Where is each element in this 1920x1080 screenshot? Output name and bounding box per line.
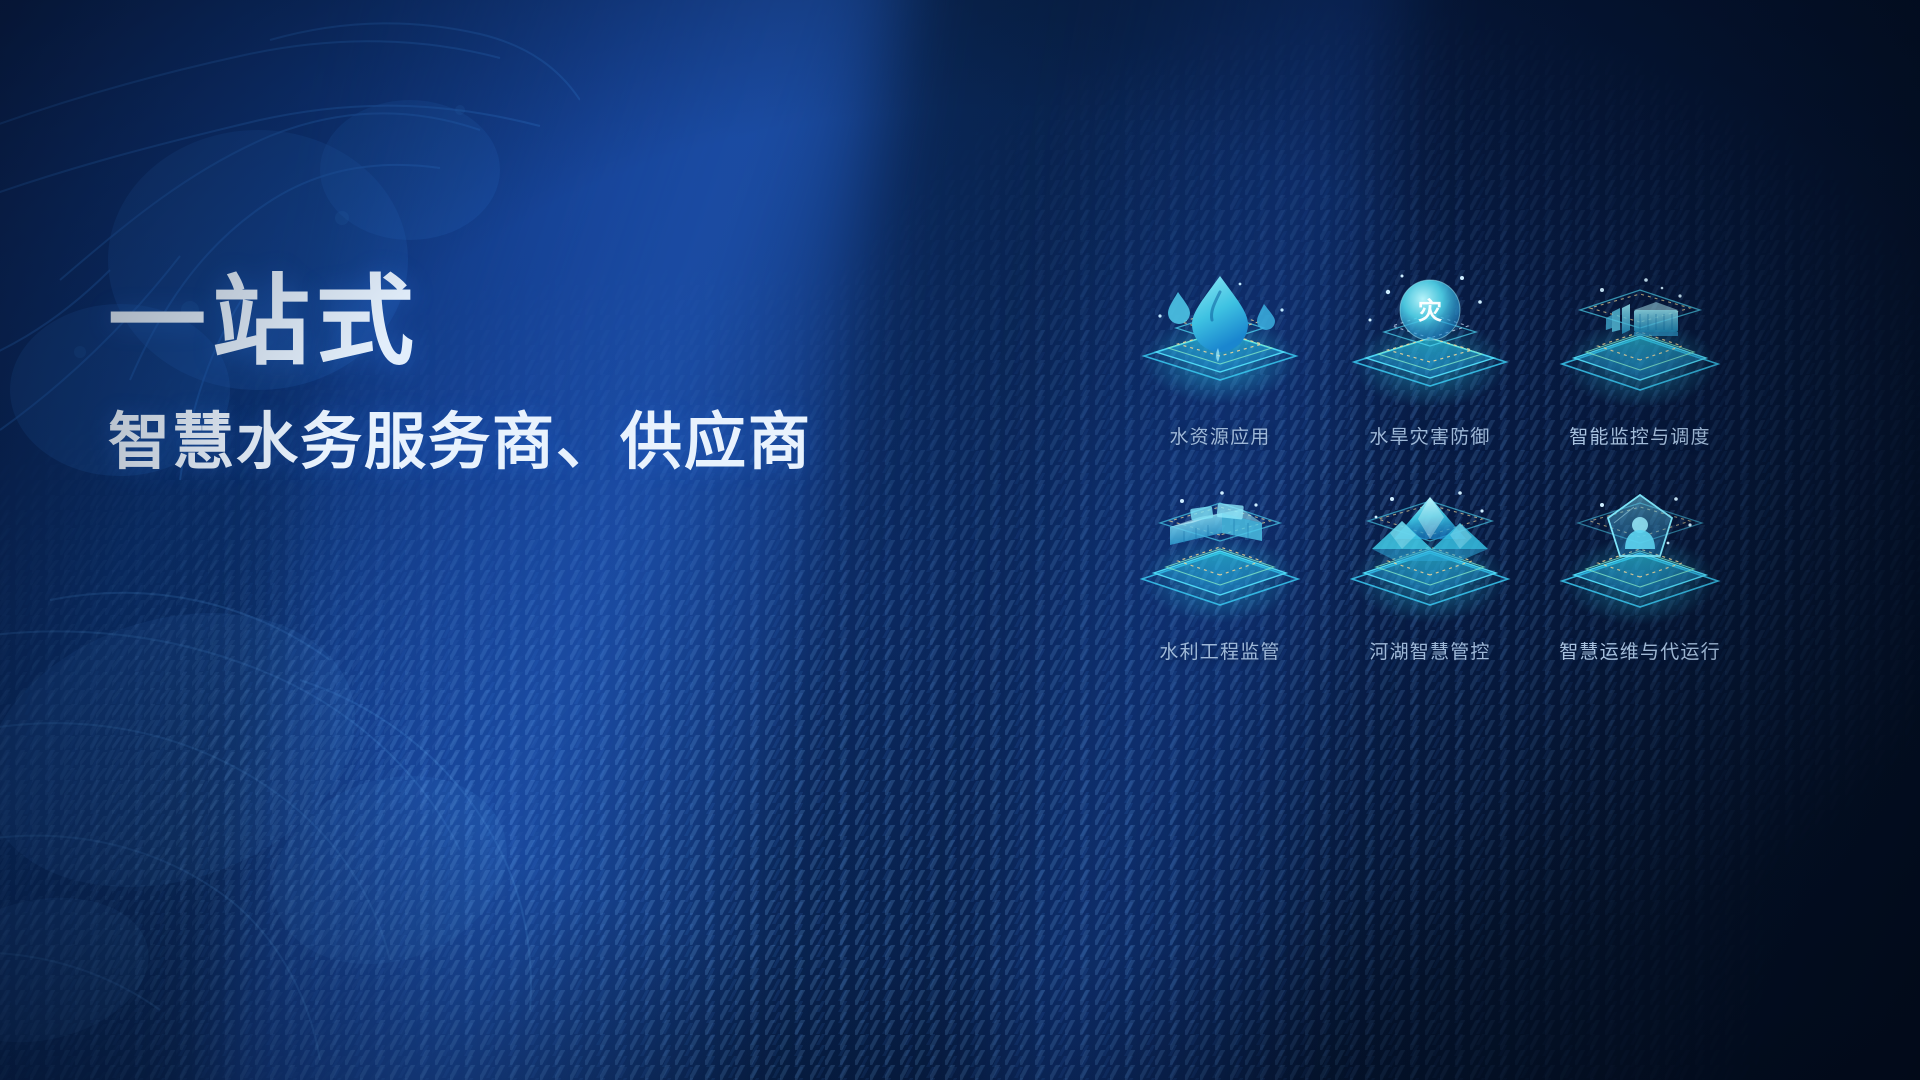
- shield-operations-platform-icon: [1550, 483, 1730, 633]
- svg-text:灾: 灾: [1418, 297, 1442, 325]
- capability-item-flood-drought-defense[interactable]: 灾 水旱灾害防御: [1330, 268, 1530, 449]
- hero-copy: 一站式 智慧水务服务商、供应商: [108, 272, 968, 477]
- capability-item-smart-monitor-dispatch[interactable]: 智能监控与调度: [1540, 268, 1740, 449]
- capability-label: 水利工程监管: [1159, 637, 1280, 664]
- capability-item-smart-ops-operation[interactable]: 智慧运维与代运行: [1540, 483, 1740, 664]
- page-subtitle: 智慧水务服务商、供应商: [108, 408, 968, 477]
- capability-label: 河湖智慧管控: [1369, 637, 1490, 664]
- capability-label: 智慧运维与代运行: [1559, 637, 1721, 664]
- dam-monitoring-platform-icon: [1550, 268, 1730, 418]
- capability-label: 智能监控与调度: [1569, 422, 1710, 449]
- capability-label: 水资源应用: [1169, 422, 1270, 449]
- page-title: 一站式: [108, 272, 968, 370]
- river-mountain-platform-icon: [1340, 483, 1520, 633]
- capability-grid: 水资源应用: [1120, 268, 1740, 664]
- capability-item-river-lake-control[interactable]: 河湖智慧管控: [1330, 483, 1530, 664]
- capability-item-hydro-project-supervision[interactable]: 水利工程监管: [1120, 483, 1320, 664]
- capability-label: 水旱灾害防御: [1369, 422, 1490, 449]
- hydro-structure-platform-icon: [1130, 483, 1310, 633]
- disaster-sphere-platform-icon: 灾: [1340, 268, 1520, 418]
- hero-banner: 一站式 智慧水务服务商、供应商: [0, 0, 1920, 1080]
- capability-item-water-resource[interactable]: 水资源应用: [1120, 268, 1320, 449]
- water-droplet-platform-icon: [1130, 268, 1310, 418]
